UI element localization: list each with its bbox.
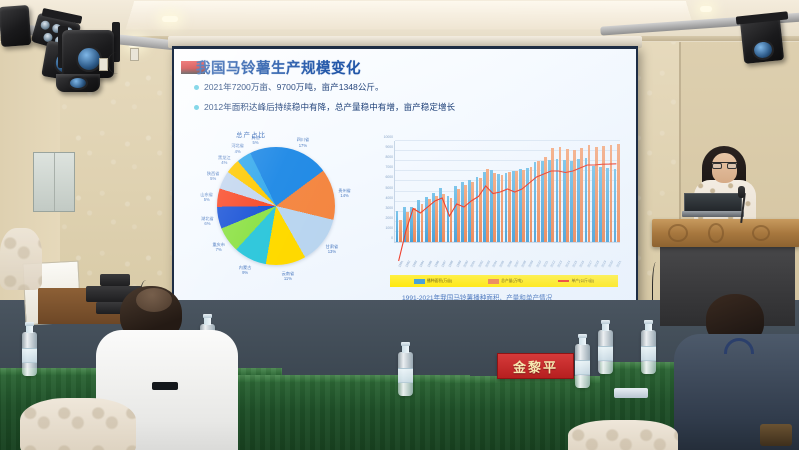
pie-slice-label: 其他5%	[244, 135, 268, 146]
pie-slice-label: 重庆市7%	[207, 242, 231, 253]
microphone-icon	[738, 186, 745, 198]
y-axis-tick: 10000	[384, 135, 393, 139]
wall-cabinet	[33, 152, 75, 212]
water-bottle	[641, 330, 656, 374]
bottle-label	[641, 346, 656, 361]
y-axis-tick: 6000	[385, 175, 393, 179]
podium-wood-grain	[668, 224, 688, 242]
av-equipment-box	[100, 274, 130, 286]
legend-line-swatch	[558, 280, 569, 282]
attendee-scalp	[136, 288, 172, 312]
water-bottle	[398, 352, 413, 396]
glasses-lens-left	[712, 163, 722, 169]
chair	[20, 398, 136, 450]
pie-slice-label: 云南省11%	[276, 271, 300, 282]
podium-top	[652, 219, 799, 247]
slide-bullet-2: 2012年面积达峰后持续稳中有降，总产量稳中有增，亩产稳定增长	[194, 101, 455, 113]
water-bottle	[575, 344, 590, 388]
legend-label: 播种面积(万亩)	[427, 279, 452, 284]
moving-head-light	[56, 74, 100, 92]
bar-chart-legend: 播种面积(万亩)总产量(万吨)单产(公斤/亩)	[390, 275, 618, 287]
podium-laptop-keyboard[interactable]	[682, 211, 744, 217]
y-axis-tick: 8000	[385, 155, 393, 159]
pie-slice-label: 四川省17%	[291, 137, 315, 148]
light-lens-icon	[68, 76, 88, 90]
moving-head-light	[0, 5, 31, 47]
y-axis-tick: 1000	[385, 226, 393, 230]
chair	[0, 228, 42, 290]
pie-slice-label: 内蒙古9%	[233, 265, 257, 276]
slide-bullet-text: 2012年面积达峰后持续稳中有降，总产量稳中有增，亩产稳定增长	[204, 101, 455, 113]
bottle-label	[398, 368, 413, 383]
nameplate: 金黎平	[497, 353, 574, 379]
slide-bullet-text: 2021年7200万亩、9700万吨，亩产1348公斤。	[204, 81, 384, 93]
bar-chart-plot-area: 0100020003000400050006000700080009000100…	[394, 141, 620, 243]
wall-outlet	[99, 58, 108, 71]
y-axis-tick: 4000	[385, 196, 393, 200]
light-lens-icon	[751, 39, 775, 61]
slide-bullet-1: 2021年7200万亩、9700万吨，亩产1348公斤。	[194, 81, 384, 93]
bottle-label	[22, 348, 37, 363]
slide-title: 我国马铃薯生产规模变化	[196, 57, 361, 78]
pie-slice-label: 陕西省5%	[201, 171, 225, 182]
bar-chart: 0100020003000400050006000700080009000100…	[370, 137, 628, 269]
y-axis-tick: 3000	[385, 206, 393, 210]
mug	[760, 424, 792, 446]
chair-fabric-pattern	[568, 420, 678, 450]
chair-fabric-pattern	[0, 228, 42, 290]
legend-label: 总产量(万吨)	[501, 279, 523, 284]
water-bottle	[598, 330, 613, 374]
pie-slice-label: 贵州省14%	[333, 188, 357, 199]
podium-wood-grain	[708, 223, 724, 243]
podium-laptop-screen[interactable]	[684, 193, 742, 212]
y-axis-tick: 7000	[385, 165, 393, 169]
bullet-dot-icon	[194, 105, 199, 110]
legend-color-swatch	[488, 279, 499, 284]
legend-label: 单产(公斤/亩)	[571, 279, 594, 284]
pie-chart: 四川省17%贵州省14%甘肃省13%云南省11%内蒙古9%重庆市7%湖北省6%山…	[200, 141, 350, 291]
pie-slice-label: 甘肃省13%	[320, 244, 344, 255]
legend-item: 单产(公斤/亩)	[558, 279, 594, 284]
bottle-label	[575, 360, 590, 375]
pie-slice-label: 黑龙江4%	[212, 155, 236, 166]
y-axis-tick: 2000	[385, 216, 393, 220]
y-axis-tick: 5000	[385, 186, 393, 190]
pie-slice-label: 山东省5%	[195, 192, 219, 203]
presentation-slide: 我国马铃薯生产规模变化 2021年7200万亩、9700万吨，亩产1348公斤。…	[174, 49, 636, 302]
phone	[152, 382, 178, 390]
pie-slice-label: 湖北省6%	[195, 216, 219, 227]
y-axis-tick: 9000	[385, 145, 393, 149]
podium-wood-grain	[752, 225, 770, 241]
water-bottle	[22, 332, 37, 376]
ceiling-downlight	[700, 6, 712, 12]
ceiling-downlight	[162, 16, 178, 22]
notebook	[614, 388, 648, 398]
y-axis-tick: 0	[391, 236, 393, 240]
legend-color-swatch	[414, 279, 425, 284]
light-bulb-icon	[40, 20, 51, 31]
legend-item: 总产量(万吨)	[488, 279, 523, 284]
glasses-lens-right	[727, 163, 737, 169]
bullet-dot-icon	[194, 85, 199, 90]
legend-item: 播种面积(万亩)	[414, 279, 452, 284]
chair-fabric-pattern	[20, 398, 136, 450]
bottle-label	[598, 346, 613, 361]
nameplate-text: 金黎平	[513, 357, 558, 376]
chair	[568, 420, 678, 450]
glasses-icon	[712, 162, 737, 168]
power-cable	[108, 52, 134, 74]
conference-room-photo: 我国马铃薯生产规模变化 2021年7200万亩、9700万吨，亩产1348公斤。…	[0, 0, 799, 450]
